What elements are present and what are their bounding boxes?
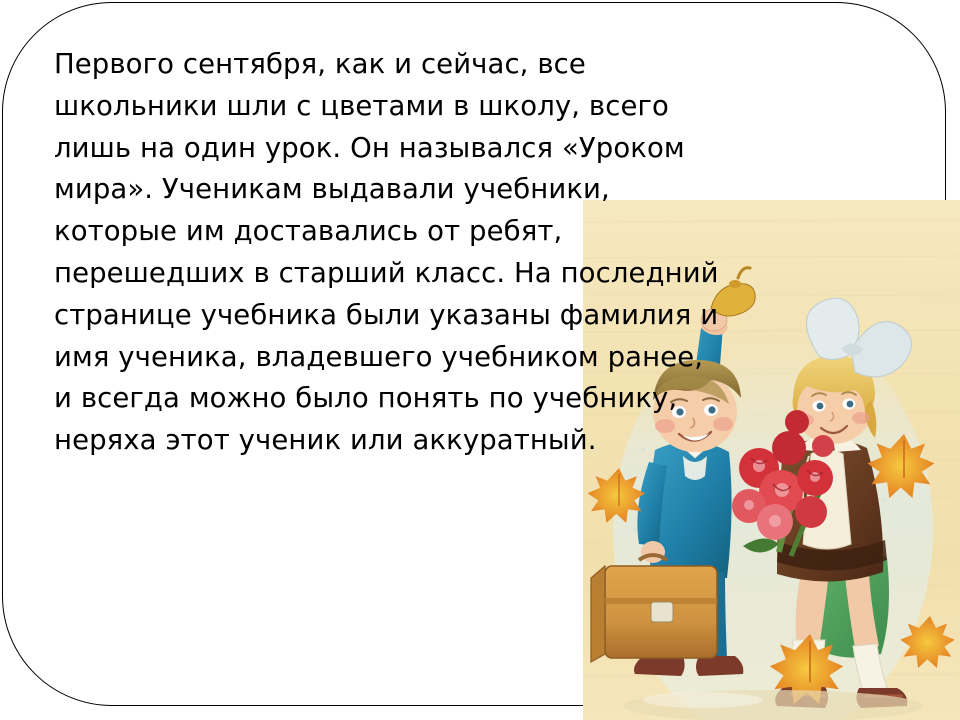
briefcase	[591, 566, 717, 662]
slide-canvas: Первого сентября, как и сейчас, все школ…	[0, 0, 960, 720]
body-paragraph: Первого сентября, как и сейчас, все школ…	[54, 44, 934, 462]
